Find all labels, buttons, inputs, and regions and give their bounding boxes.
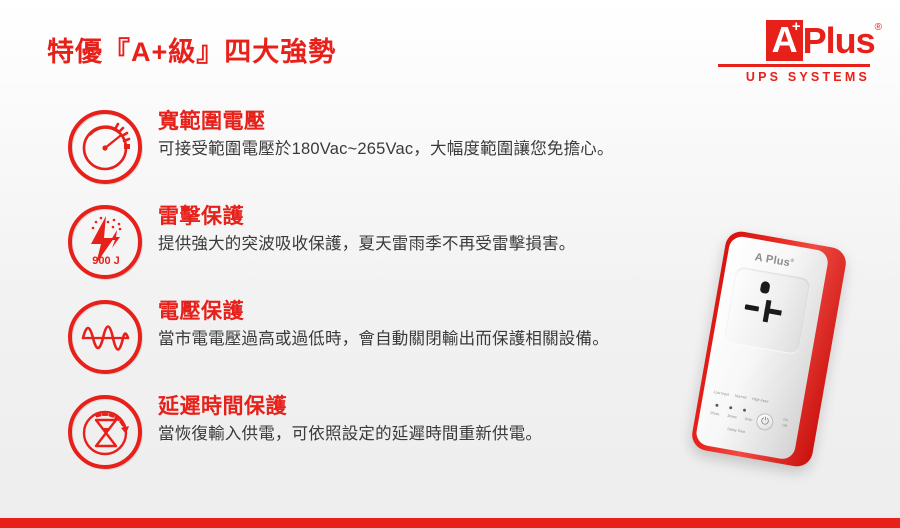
panel-delay-options: 15sec 30sec 3min	[710, 411, 753, 422]
label-low-input: Low Input	[713, 390, 729, 397]
product-image: A Plus® Low Input Normal High Input	[700, 228, 900, 483]
logo-plus-symbol: +	[792, 21, 801, 33]
logo-divider	[718, 64, 870, 67]
socket-left-slot	[745, 304, 760, 311]
feature-description: 提供強大的突波吸收保護，夏天雷雨季不再受雷擊損害。	[158, 231, 576, 257]
logo-word-plus: Plus	[803, 20, 875, 61]
feature-text: 寬範圍電壓 可接受範圍電壓於180Vac~265Vac，大幅度範圍讓您免擔心。	[150, 103, 614, 162]
label-high-input: High Input	[752, 397, 769, 404]
feature-description: 當市電電壓過高或過低時，會自動關閉輸出而保護相關設備。	[158, 326, 609, 352]
product-control-panel: Low Input Normal High Input 15sec 30sec …	[703, 388, 791, 453]
product-device: A Plus® Low Input Normal High Input	[690, 229, 849, 469]
product-registered-icon: ®	[790, 258, 795, 265]
logo-a-box: A +	[766, 20, 803, 61]
promo-banner: 特優『A+級』四大強勢 A + Plus ® UPS SYSTEMS	[0, 0, 900, 528]
waveform-icon	[62, 293, 150, 381]
hourglass-refresh-icon	[62, 388, 150, 476]
led-indicator	[729, 406, 732, 409]
feature-description: 當恢復輸入供電，可依照設定的延遲時間重新供電。	[158, 421, 542, 447]
feature-title: 延遲時間保護	[158, 393, 542, 421]
page-title: 特優『A+級』四大強勢	[47, 30, 336, 69]
lightning-bolt-icon: 900 J	[62, 198, 150, 286]
feature-item: 寬範圍電壓 可接受範圍電壓於180Vac~265Vac，大幅度範圍讓您免擔心。	[62, 103, 722, 198]
feature-item: 900 J 雷擊保護 提供強大的突波吸收保護，夏天雷雨季不再受雷擊損害。	[62, 198, 722, 293]
label-normal: Normal	[735, 394, 747, 400]
banner-header: 特優『A+級』四大強勢 A + Plus ® UPS SYSTEMS	[0, 0, 900, 100]
feature-title: 電壓保護	[158, 298, 609, 326]
bottom-accent-bar	[0, 518, 900, 528]
feature-text: 電壓保護 當市電電壓過高或過低時，會自動關閉輸出而保護相關設備。	[150, 293, 609, 352]
led-indicator	[743, 408, 746, 411]
feature-text: 雷擊保護 提供強大的突波吸收保護，夏天雷雨季不再受雷擊損害。	[150, 198, 576, 257]
feature-text: 延遲時間保護 當恢復輸入供電，可依照設定的延遲時間重新供電。	[150, 388, 542, 447]
power-button[interactable]: ⏻	[755, 412, 775, 432]
power-outlet-socket	[724, 266, 811, 354]
delay-option-3min: 3min	[744, 417, 752, 422]
feature-title: 寬範圍電壓	[158, 108, 614, 136]
feature-list: 寬範圍電壓 可接受範圍電壓於180Vac~265Vac，大幅度範圍讓您免擔心。	[62, 103, 722, 483]
registered-trademark-icon: ®	[875, 22, 882, 34]
delay-option-15sec: 15sec	[710, 411, 720, 417]
aplus-logo: A + Plus ® UPS SYSTEMS	[712, 20, 882, 82]
feature-description: 可接受範圍電壓於180Vac~265Vac，大幅度範圍讓您免擔心。	[158, 136, 614, 162]
label-off: Off	[782, 422, 788, 429]
socket-ground-slot	[759, 281, 770, 294]
logo-subtitle: UPS SYSTEMS	[712, 70, 882, 84]
gauge-icon	[62, 103, 150, 191]
feature-title: 雷擊保護	[158, 203, 576, 231]
joule-rating-label: 900 J	[92, 255, 120, 267]
power-icon: ⏻	[760, 416, 770, 427]
panel-indicator-leds	[715, 404, 746, 412]
delay-time-label: Delay Time	[727, 427, 745, 434]
on-off-labels: On Off	[782, 417, 789, 430]
delay-option-30sec: 30sec	[727, 414, 737, 420]
logo-wordmark: A + Plus ®	[712, 20, 882, 62]
led-indicator	[715, 404, 718, 407]
feature-item: 電壓保護 當市電電壓過高或過低時，會自動關閉輸出而保護相關設備。	[62, 293, 722, 388]
feature-item: 延遲時間保護 當恢復輸入供電，可依照設定的延遲時間重新供電。	[62, 388, 722, 483]
